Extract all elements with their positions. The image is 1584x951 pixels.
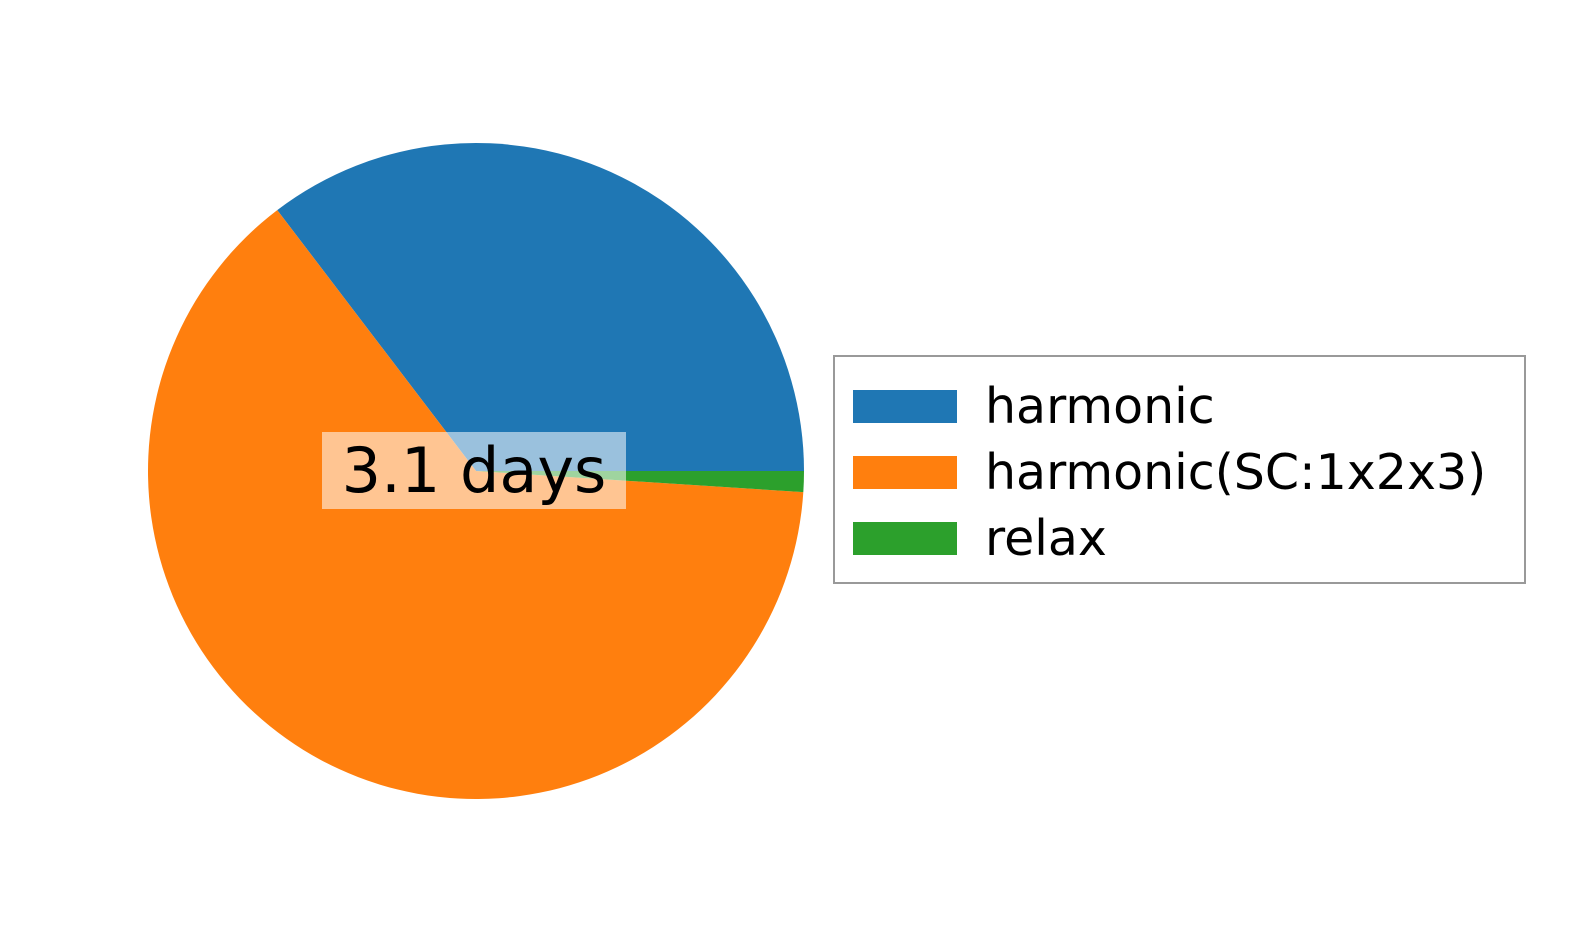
legend-item[interactable]: relax [853, 505, 1524, 571]
legend-box: harmonicharmonic(SC:1x2x3)relax [833, 355, 1526, 584]
legend-color-swatch [853, 456, 957, 489]
legend-item-label: relax [985, 514, 1107, 563]
legend-item-list: harmonicharmonic(SC:1x2x3)relax [853, 373, 1524, 582]
figure-canvas: 3.1 days harmonicharmonic(SC:1x2x3)relax [0, 0, 1584, 951]
center-annotation-text: 3.1 days [342, 440, 607, 502]
center-annotation-box: 3.1 days [322, 432, 626, 509]
legend-color-swatch [853, 522, 957, 555]
legend-item[interactable]: harmonic [853, 373, 1524, 439]
legend-color-swatch [853, 390, 957, 423]
legend-item[interactable]: harmonic(SC:1x2x3) [853, 439, 1524, 505]
legend-item-label: harmonic [985, 382, 1215, 431]
legend-item-label: harmonic(SC:1x2x3) [985, 448, 1486, 497]
